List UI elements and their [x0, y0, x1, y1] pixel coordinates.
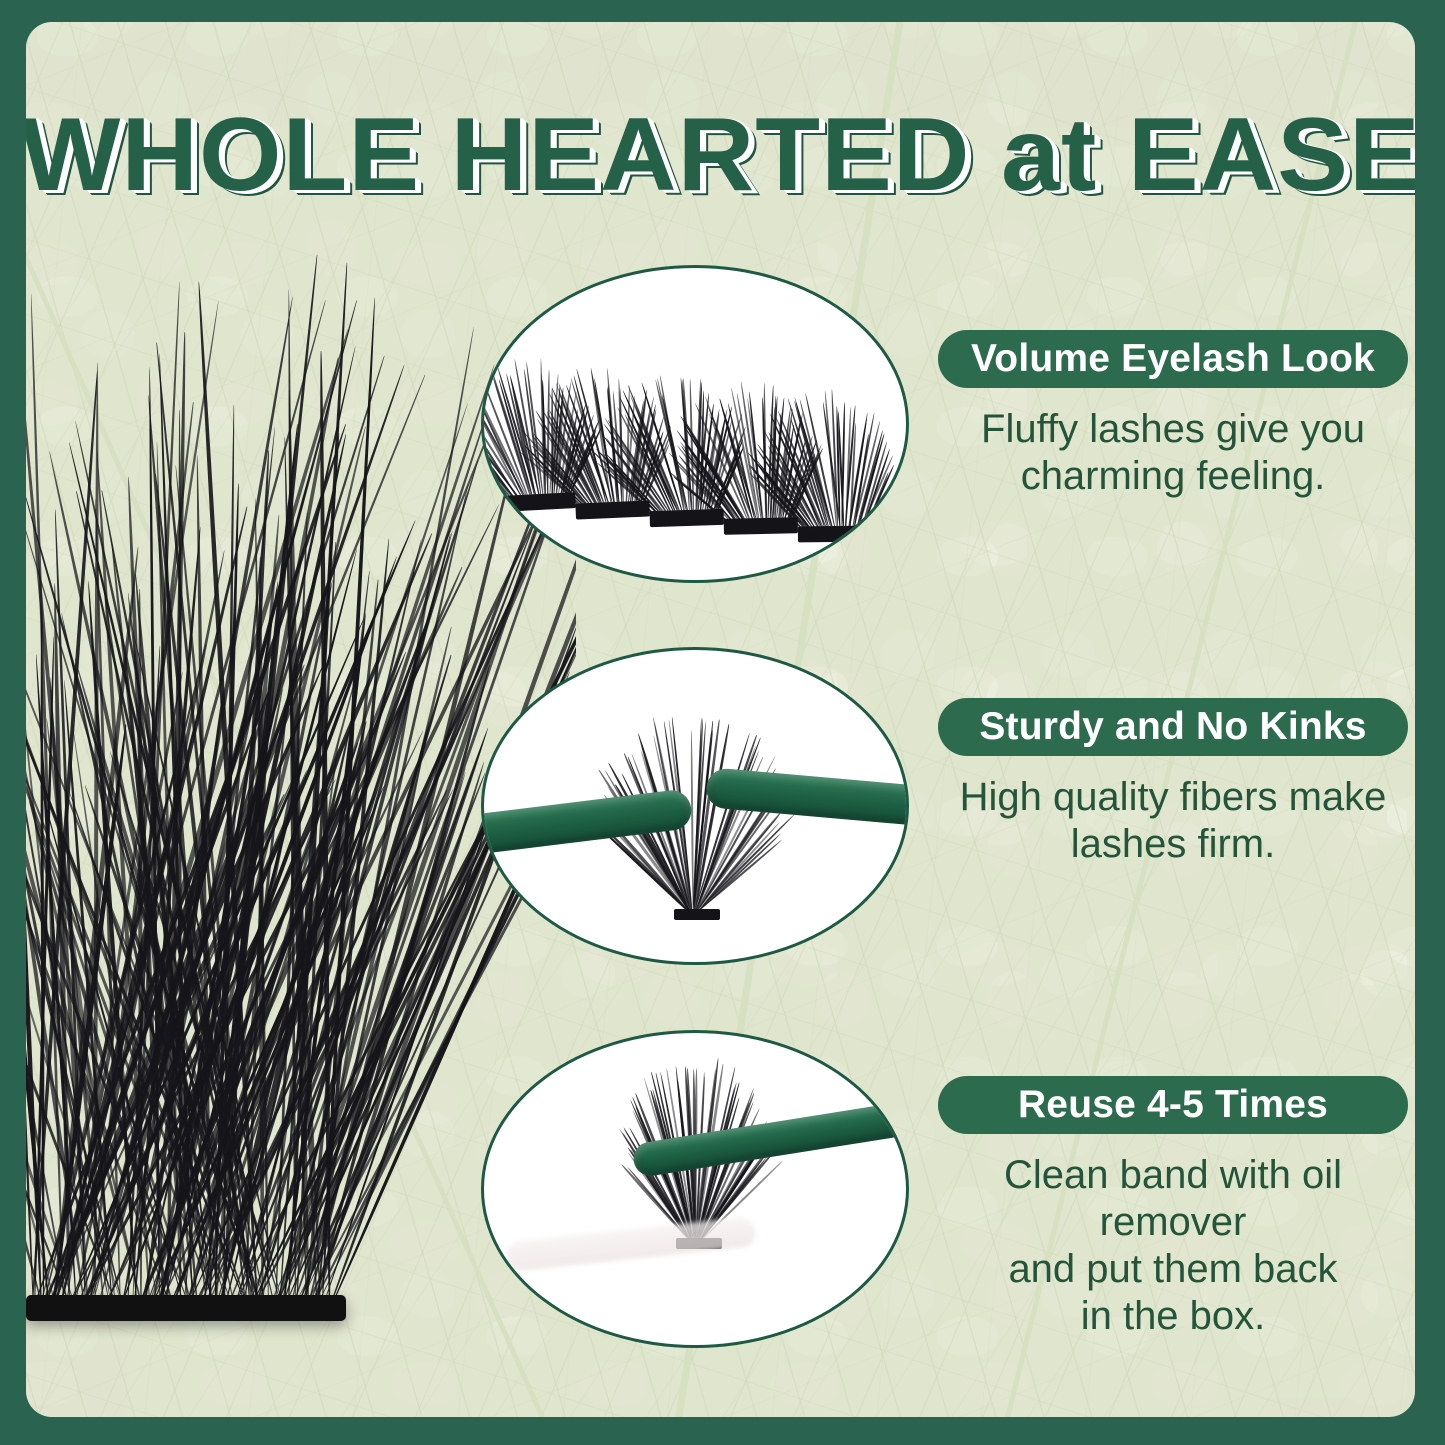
feature-image-1-oval — [481, 265, 909, 583]
feature-badge-2: Sturdy and No Kinks — [938, 698, 1408, 756]
feature-desc-3: Clean band with oil remover and put them… — [938, 1152, 1408, 1340]
feature-image-2-oval — [481, 647, 909, 965]
feature-badge-1: Volume Eyelash Look — [938, 330, 1408, 388]
feature-block-3: Reuse 4-5 Times Clean band with oil remo… — [938, 1076, 1408, 1340]
feature-desc-1: Fluffy lashes give you charming feeling. — [938, 406, 1408, 500]
feature-block-2: Sturdy and No Kinks High quality fibers … — [938, 698, 1408, 868]
feature-image-3-oval — [481, 1030, 909, 1348]
content-panel: WHOLE HEARTED at EASE Volume Eyelash Loo… — [26, 22, 1415, 1417]
page-title: WHOLE HEARTED at EASE — [26, 96, 1415, 215]
feature-block-1: Volume Eyelash Look Fluffy lashes give y… — [938, 330, 1408, 500]
product-infographic-poster: WHOLE HEARTED at EASE Volume Eyelash Loo… — [0, 0, 1445, 1445]
feature-desc-2: High quality fibers make lashes firm. — [938, 774, 1408, 868]
lash-cluster — [796, 392, 872, 543]
feature-badge-3: Reuse 4-5 Times — [938, 1076, 1408, 1134]
